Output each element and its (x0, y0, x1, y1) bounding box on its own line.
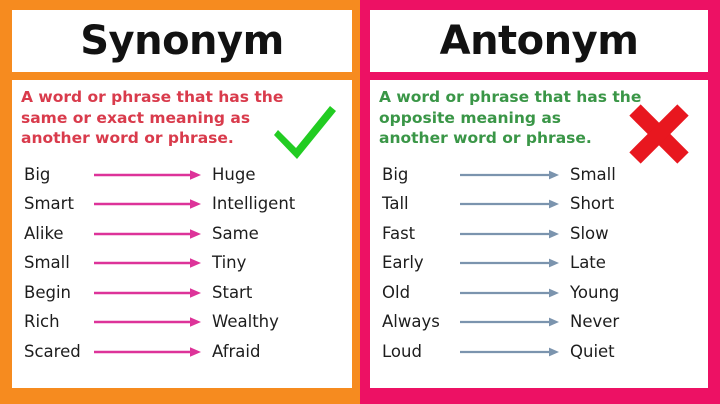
antonym-title: Antonym (440, 21, 639, 61)
arrow-right-icon (460, 169, 560, 181)
arrow-right-icon (94, 198, 202, 210)
synonym-pair-list: Big Huge Smart (12, 160, 352, 367)
table-row: Tall Short (382, 190, 702, 220)
synonym-source-word: Smart (24, 196, 94, 213)
synonym-antonym-board: Synonym A word or phrase that has the sa… (0, 0, 720, 404)
antonym-source-word: Early (382, 255, 460, 272)
table-row: Big Small (382, 160, 702, 190)
antonym-definition-line-1: A word or phrase that has the (379, 87, 641, 108)
antonym-definition-line-2: opposite meaning as (379, 108, 641, 129)
antonym-target-word: Small (560, 167, 702, 184)
synonym-source-word: Scared (24, 344, 94, 361)
antonym-target-word: Quiet (560, 344, 702, 361)
antonym-target-word: Late (560, 255, 702, 272)
synonym-definition-line-2: same or exact meaning as (21, 108, 283, 129)
synonym-title: Synonym (80, 21, 284, 61)
synonym-target-word: Wealthy (202, 314, 346, 331)
table-row: Fast Slow (382, 219, 702, 249)
synonym-source-word: Big (24, 167, 94, 184)
table-row: Rich Wealthy (24, 308, 346, 338)
table-row: Always Never (382, 308, 702, 338)
antonym-target-word: Never (560, 314, 702, 331)
synonym-source-word: Alike (24, 226, 94, 243)
synonym-definition: A word or phrase that has the same or ex… (12, 87, 291, 149)
antonym-target-word: Slow (560, 226, 702, 243)
synonym-target-word: Same (202, 226, 346, 243)
antonym-source-word: Big (382, 167, 460, 184)
antonym-source-word: Tall (382, 196, 460, 213)
synonym-target-word: Afraid (202, 344, 346, 361)
antonym-target-word: Young (560, 285, 702, 302)
arrow-right-icon (460, 316, 560, 328)
table-row: Alike Same (24, 219, 346, 249)
arrow-right-icon (460, 198, 560, 210)
arrow-right-icon (94, 346, 202, 358)
antonym-source-word: Fast (382, 226, 460, 243)
antonym-title-box: Antonym (370, 10, 708, 72)
synonym-target-word: Start (202, 285, 346, 302)
antonym-panel-divider (370, 72, 708, 80)
table-row: Loud Quiet (382, 337, 702, 367)
synonym-target-word: Intelligent (202, 196, 346, 213)
table-row: Big Huge (24, 160, 346, 190)
arrow-right-icon (460, 346, 560, 358)
synonym-source-word: Begin (24, 285, 94, 302)
arrow-right-icon (94, 287, 202, 299)
synonym-source-word: Small (24, 255, 94, 272)
synonym-content-box: A word or phrase that has the same or ex… (12, 80, 352, 388)
antonym-panel: Antonym A word or phrase that has the op… (360, 0, 720, 404)
arrow-right-icon (460, 228, 560, 240)
antonym-source-word: Always (382, 314, 460, 331)
synonym-panel: Synonym A word or phrase that has the sa… (0, 0, 360, 404)
table-row: Old Young (382, 278, 702, 308)
table-row: Begin Start (24, 278, 346, 308)
synonym-target-word: Huge (202, 167, 346, 184)
arrow-right-icon (94, 169, 202, 181)
synonym-source-word: Rich (24, 314, 94, 331)
arrow-right-icon (94, 228, 202, 240)
synonym-panel-divider (12, 72, 352, 80)
antonym-definition-line-3: another word or phrase. (379, 128, 641, 149)
antonym-target-word: Short (560, 196, 702, 213)
arrow-right-icon (94, 257, 202, 269)
synonym-title-box: Synonym (12, 10, 352, 72)
antonym-pair-list: Big Small Tall (370, 160, 708, 367)
arrow-right-icon (460, 287, 560, 299)
antonym-source-word: Old (382, 285, 460, 302)
table-row: Early Late (382, 249, 702, 279)
antonym-source-word: Loud (382, 344, 460, 361)
table-row: Small Tiny (24, 249, 346, 279)
synonym-definition-line-3: another word or phrase. (21, 128, 283, 149)
antonym-content-box: A word or phrase that has the opposite m… (370, 80, 708, 388)
arrow-right-icon (460, 257, 560, 269)
synonym-target-word: Tiny (202, 255, 346, 272)
arrow-right-icon (94, 316, 202, 328)
table-row: Smart Intelligent (24, 190, 346, 220)
antonym-definition: A word or phrase that has the opposite m… (370, 87, 649, 149)
table-row: Scared Afraid (24, 337, 346, 367)
synonym-definition-line-1: A word or phrase that has the (21, 87, 283, 108)
